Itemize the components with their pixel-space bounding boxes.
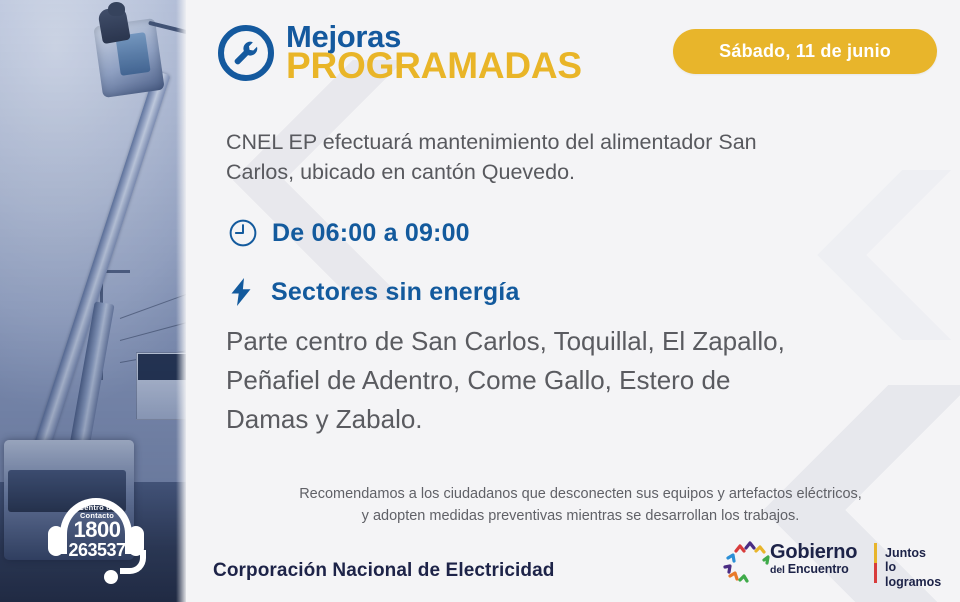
intro-paragraph: CNEL EP efectuará mantenimiento del alim… — [226, 128, 935, 187]
intro-line-1: CNEL EP efectuará mantenimiento del alim… — [226, 128, 935, 158]
recommendation-line-1: Recomendamos a los ciudadanos que descon… — [226, 483, 935, 505]
date-badge: Sábado, 11 de junio — [673, 29, 937, 74]
brand-header: Mejoras PROGRAMADAS — [218, 18, 582, 88]
government-logo-divider — [874, 543, 877, 583]
government-logo: Gobierno del Encuentro Juntos lo logramo… — [722, 540, 937, 588]
lightning-bolt-icon — [228, 276, 255, 308]
headset-mic-tip-icon — [104, 570, 118, 584]
recommendation-note: Recomendamos a los ciudadanos que descon… — [226, 483, 935, 528]
government-wordmark: Gobierno del Encuentro — [770, 542, 857, 576]
outage-time-row: De 06:00 a 09:00 — [228, 218, 470, 248]
chevron-burst-icon — [722, 540, 774, 586]
clock-icon — [228, 218, 258, 248]
chevron-watermark-right-upper — [750, 170, 960, 340]
corporation-name: Corporación Nacional de Electricidad — [213, 560, 554, 582]
government-name-del: del — [770, 564, 788, 576]
wrench-in-circle-icon — [218, 25, 274, 81]
government-slogan-line1: Juntos — [885, 546, 941, 560]
sectors-heading-row: Sectores sin energía — [228, 276, 520, 308]
government-name-encuentro: Encuentro — [788, 562, 849, 576]
contact-center-number-1: 1800 — [62, 519, 132, 541]
recommendation-line-2: y adopten medidas preventivas mientras s… — [226, 505, 935, 527]
intro-line-2: Carlos, ubicado en cantón Quevedo. — [226, 158, 935, 188]
mejoras-programadas-poster: Centro de Contacto 1800 263537 Mejoras P… — [0, 0, 960, 602]
contact-center-text: Centro de Contacto 1800 263537 — [62, 504, 132, 560]
sectors-line-3: Damas y Zabalo. — [226, 400, 926, 439]
bucket-truck-photo: Centro de Contacto 1800 263537 — [0, 0, 186, 602]
sectors-line-2: Peñafiel de Adentro, Come Gallo, Estero … — [226, 361, 926, 400]
outage-time-label: De 06:00 a 09:00 — [272, 219, 470, 248]
government-name-line1: Gobierno — [770, 542, 857, 562]
sectors-heading-label: Sectores sin energía — [271, 278, 520, 307]
photo-right-fade — [176, 0, 186, 602]
contact-center-badge: Centro de Contacto 1800 263537 — [40, 492, 152, 588]
brand-title-line2: PROGRAMADAS — [286, 49, 582, 84]
sectors-list-text: Parte centro de San Carlos, Toquillal, E… — [226, 322, 926, 439]
government-name-line2: del Encuentro — [770, 563, 857, 576]
government-slogan-line2: lo logramos — [885, 560, 941, 589]
sectors-line-1: Parte centro de San Carlos, Toquillal, E… — [226, 322, 926, 361]
government-slogan: Juntos lo logramos — [885, 546, 941, 589]
brand-wordmark: Mejoras PROGRAMADAS — [286, 22, 582, 84]
contact-center-number-2: 263537 — [62, 541, 132, 560]
